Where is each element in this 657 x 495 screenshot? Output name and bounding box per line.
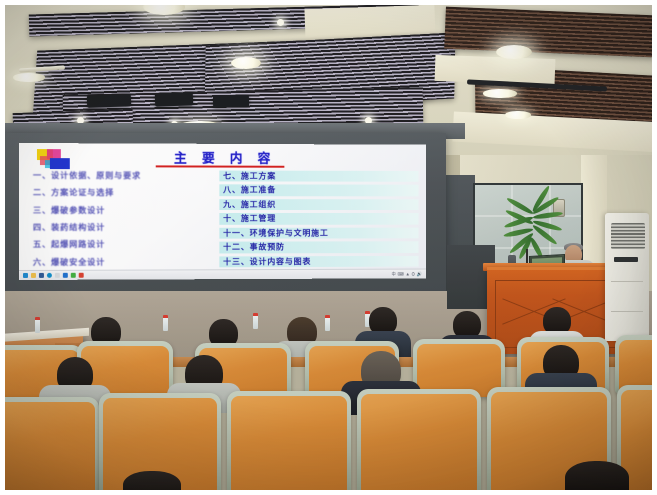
ac-grille-icon xyxy=(611,223,645,249)
app-icon[interactable] xyxy=(79,273,84,278)
water-bottle xyxy=(163,315,168,331)
explorer-icon[interactable] xyxy=(31,273,36,278)
slide-item: 八、施工准备 xyxy=(219,185,418,196)
folder-icon[interactable] xyxy=(55,273,60,278)
taskbar-tray[interactable]: 中 ⌨ ▲ ⛭ 🔊 xyxy=(392,271,423,277)
ceiling-light-5 xyxy=(505,111,531,119)
windows-taskbar[interactable]: 中 ⌨ ▲ ⛭ 🔊 xyxy=(19,269,426,280)
slide-title: 主 要 内 容 xyxy=(19,147,426,167)
slide-item: 四、装药结构设计 xyxy=(29,222,211,234)
ceiling-light-3 xyxy=(496,45,532,59)
start-icon[interactable] xyxy=(23,273,28,278)
water-bottle xyxy=(253,313,258,329)
slide-item: 十二、事故预防 xyxy=(219,241,418,253)
slide-item: 九、施工组织 xyxy=(219,199,418,210)
slide-item: 十三、设计内容与图表 xyxy=(219,255,418,267)
slide-title-underline xyxy=(156,165,285,167)
slide-right-column: 七、施工方案 八、施工准备 九、施工组织 十、施工管理 十一、环境保护与文明施工… xyxy=(219,171,418,268)
slide-content-columns: 一、设计依据、原则与要求 二、方案论证与选择 三、爆破参数设计 四、装药结构设计… xyxy=(29,170,419,268)
slide-left-column: 一、设计依据、原则与要求 二、方案论证与选择 三、爆破参数设计 四、装药结构设计… xyxy=(29,170,211,268)
slide-item: 十一、环境保护与文明施工 xyxy=(219,227,418,238)
ceiling-slat-panel-brown-upper xyxy=(444,7,652,58)
auditorium-seat xyxy=(357,389,481,490)
ceiling-light-2 xyxy=(231,57,261,69)
slide-item: 二、方案论证与选择 xyxy=(29,187,211,199)
projected-slide[interactable]: 主 要 内 容 一、设计依据、原则与要求 二、方案论证与选择 三、爆破参数设计 … xyxy=(19,143,426,280)
slide-item: 三、爆破参数设计 xyxy=(29,205,211,216)
ceiling-equipment-box-2 xyxy=(213,94,249,107)
slide-item: 六、爆破安全设计 xyxy=(29,256,211,268)
ceiling-downlight-3 xyxy=(277,19,284,26)
ceiling-equipment-box-1 xyxy=(155,92,193,106)
attendee-head xyxy=(565,461,629,490)
slide-item: 七、施工方案 xyxy=(219,171,418,183)
water-bottle xyxy=(35,317,40,333)
word-icon[interactable] xyxy=(39,273,44,278)
powerpoint-icon[interactable] xyxy=(63,273,68,278)
room-interior: 主 要 内 容 一、设计依据、原则与要求 二、方案论证与选择 三、爆破参数设计 … xyxy=(5,5,652,490)
ceiling-projector-mount xyxy=(87,94,131,108)
auditorium-seat xyxy=(5,397,99,490)
slide-item: 十、施工管理 xyxy=(219,213,418,224)
attendee-head xyxy=(123,471,181,490)
auditorium-seat xyxy=(227,391,351,490)
ac-display-panel xyxy=(614,257,638,262)
water-bottle xyxy=(325,315,330,331)
floor-standing-air-conditioner xyxy=(605,213,649,341)
edge-icon[interactable] xyxy=(47,273,52,278)
projection-screen-frame: 主 要 内 容 一、设计依据、原则与要求 二、方案论证与选择 三、爆破参数设计 … xyxy=(5,133,446,295)
slide-item: 五、起爆网路设计 xyxy=(29,239,211,251)
ceiling-light-6 xyxy=(13,73,45,82)
ceiling-light-4 xyxy=(483,89,517,98)
lecture-hall-photo: 主 要 内 容 一、设计依据、原则与要求 二、方案论证与选择 三、爆破参数设计 … xyxy=(0,0,657,495)
slide-item: 一、设计依据、原则与要求 xyxy=(29,170,211,182)
wechat-icon[interactable] xyxy=(71,273,76,278)
